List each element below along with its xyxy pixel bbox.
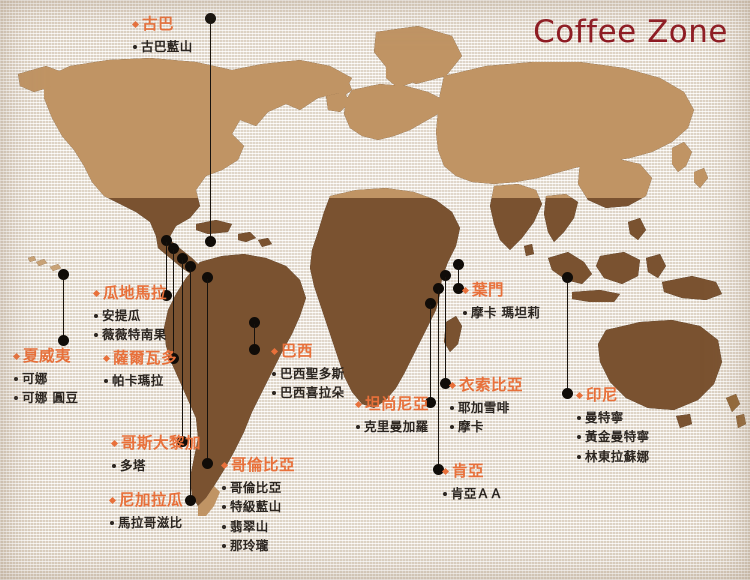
diamond-bullet-icon <box>109 497 116 504</box>
connector-line-kenya <box>438 290 439 469</box>
bean-item[interactable]: 肯亞ＡＡ <box>443 488 503 501</box>
diamond-bullet-icon <box>355 401 362 408</box>
round-bullet-icon <box>450 425 454 429</box>
country-label-cuba[interactable]: 古巴 <box>133 16 193 34</box>
diamond-bullet-icon <box>462 287 469 294</box>
country-name-text: 哥斯大黎加 <box>121 434 201 452</box>
round-bullet-icon <box>222 525 226 529</box>
country-name-text: 坦尚尼亞 <box>365 395 429 413</box>
bean-item[interactable]: 薇薇特南果 <box>94 329 167 342</box>
region-group-guatemala: 瓜地馬拉安提瓜薇薇特南果 <box>94 285 167 342</box>
round-bullet-icon <box>94 314 98 318</box>
bean-item[interactable]: 可娜 <box>14 373 78 386</box>
bean-item[interactable]: 曼特寧 <box>577 412 650 425</box>
bean-item[interactable]: 克里曼加羅 <box>356 421 429 434</box>
bean-name-text: 那玲瓏 <box>230 538 269 553</box>
bean-name-text: 可娜 圓豆 <box>22 390 78 405</box>
round-bullet-icon <box>577 435 581 439</box>
round-bullet-icon <box>14 396 18 400</box>
bean-name-text: 曼特寧 <box>585 410 624 425</box>
country-name-text: 哥倫比亞 <box>231 456 295 474</box>
region-group-costa-rica: 哥斯大黎加多塔 <box>112 435 201 472</box>
region-group-hawaii: 夏威夷可娜可娜 圓豆 <box>14 348 78 405</box>
bean-name-text: 帕卡瑪拉 <box>112 373 164 388</box>
round-bullet-icon <box>112 464 116 468</box>
country-label-colombia[interactable]: 哥倫比亞 <box>222 457 295 475</box>
country-name-text: 古巴 <box>142 15 174 33</box>
bean-name-text: 翡翠山 <box>230 519 269 534</box>
region-group-cuba: 古巴古巴藍山 <box>133 16 193 53</box>
country-name-text: 巴西 <box>281 342 313 360</box>
label-anchor-pin-colombia[interactable] <box>202 458 213 469</box>
round-bullet-icon <box>272 372 276 376</box>
bean-item[interactable]: 巴西聖多斯 <box>272 368 345 381</box>
bean-item[interactable]: 巴西喜拉朵 <box>272 387 345 400</box>
round-bullet-icon <box>356 425 360 429</box>
bean-item[interactable]: 安提瓜 <box>94 310 167 323</box>
country-label-tanzania[interactable]: 坦尚尼亞 <box>356 396 429 414</box>
round-bullet-icon <box>272 391 276 395</box>
round-bullet-icon <box>222 505 226 509</box>
bean-name-text: 耶加雪啡 <box>458 400 510 415</box>
connector-line-costa-rica <box>182 260 183 441</box>
bean-name-text: 肯亞ＡＡ <box>451 486 503 501</box>
country-label-indonesia[interactable]: 印尼 <box>577 387 650 405</box>
bean-name-text: 林東拉蘇娜 <box>585 449 650 464</box>
diamond-bullet-icon <box>576 392 583 399</box>
diamond-bullet-icon <box>111 440 118 447</box>
bean-item[interactable]: 耶加雪啡 <box>450 402 523 415</box>
region-group-colombia: 哥倫比亞哥倫比亞特級藍山翡翠山那玲瓏 <box>222 457 295 553</box>
country-label-hawaii[interactable]: 夏威夷 <box>14 348 78 366</box>
country-name-text: 尼加拉瓜 <box>119 491 183 509</box>
bean-name-text: 巴西喜拉朵 <box>280 385 345 400</box>
bean-item[interactable]: 多塔 <box>112 460 201 473</box>
round-bullet-icon <box>450 406 454 410</box>
round-bullet-icon <box>14 377 18 381</box>
region-group-brazil: 巴西巴西聖多斯巴西喜拉朵 <box>272 343 345 400</box>
diamond-bullet-icon <box>442 468 449 475</box>
country-label-costa-rica[interactable]: 哥斯大黎加 <box>112 435 201 453</box>
diamond-bullet-icon <box>449 382 456 389</box>
country-label-el-salvador[interactable]: 薩爾瓦多 <box>104 350 177 368</box>
bean-item[interactable]: 可娜 圓豆 <box>14 392 78 405</box>
bean-name-text: 薇薇特南果 <box>102 327 167 342</box>
country-label-yemen[interactable]: 葉門 <box>463 282 540 300</box>
region-group-yemen: 葉門摩卡 瑪坦莉 <box>463 282 540 319</box>
bean-name-text: 巴西聖多斯 <box>280 366 345 381</box>
round-bullet-icon <box>443 492 447 496</box>
country-name-text: 瓜地馬拉 <box>103 284 167 302</box>
country-name-text: 衣索比亞 <box>459 376 523 394</box>
country-name-text: 夏威夷 <box>23 347 71 365</box>
round-bullet-icon <box>110 521 114 525</box>
label-anchor-pin-indonesia[interactable] <box>562 388 573 399</box>
bean-name-text: 可娜 <box>22 371 48 386</box>
country-name-text: 薩爾瓦多 <box>113 349 177 367</box>
bean-name-text: 摩卡 <box>458 419 484 434</box>
connector-line-el-salvador <box>173 250 174 358</box>
bean-item[interactable]: 特級藍山 <box>222 501 295 514</box>
bean-item[interactable]: 那玲瓏 <box>222 540 295 553</box>
region-group-ethiopia: 衣索比亞耶加雪啡摩卡 <box>450 377 523 434</box>
country-label-nicaragua[interactable]: 尼加拉瓜 <box>110 492 183 510</box>
diamond-bullet-icon <box>221 462 228 469</box>
round-bullet-icon <box>133 45 137 49</box>
country-label-ethiopia[interactable]: 衣索比亞 <box>450 377 523 395</box>
round-bullet-icon <box>222 544 226 548</box>
country-name-text: 葉門 <box>472 281 504 299</box>
bean-item[interactable]: 哥倫比亞 <box>222 482 295 495</box>
diamond-bullet-icon <box>13 353 20 360</box>
connector-line-cuba <box>210 20 211 240</box>
bean-name-text: 哥倫比亞 <box>230 480 282 495</box>
country-label-guatemala[interactable]: 瓜地馬拉 <box>94 285 167 303</box>
bean-name-text: 多塔 <box>120 458 146 473</box>
round-bullet-icon <box>104 379 108 383</box>
bean-name-text: 特級藍山 <box>230 499 282 514</box>
diamond-bullet-icon <box>103 355 110 362</box>
region-group-kenya: 肯亞肯亞ＡＡ <box>443 463 503 500</box>
connector-line-indonesia <box>567 279 568 393</box>
round-bullet-icon <box>463 311 467 315</box>
bean-item[interactable]: 翡翠山 <box>222 521 295 534</box>
region-group-nicaragua: 尼加拉瓜馬拉哥滋比 <box>110 492 183 529</box>
diamond-bullet-icon <box>271 348 278 355</box>
bean-name-text: 摩卡 瑪坦莉 <box>471 305 540 320</box>
label-anchor-pin-brazil[interactable] <box>249 344 260 355</box>
region-group-tanzania: 坦尚尼亞克里曼加羅 <box>356 396 429 433</box>
label-anchor-pin-cuba[interactable] <box>205 236 216 247</box>
diamond-bullet-icon <box>132 21 139 28</box>
region-group-el-salvador: 薩爾瓦多帕卡瑪拉 <box>104 350 177 387</box>
country-label-brazil[interactable]: 巴西 <box>272 343 345 361</box>
bean-item[interactable]: 林東拉蘇娜 <box>577 451 650 464</box>
connector-line-tanzania <box>430 305 431 402</box>
bean-name-text: 馬拉哥滋比 <box>118 515 183 530</box>
label-anchor-pin-nicaragua[interactable] <box>185 495 196 506</box>
diamond-bullet-icon <box>93 290 100 297</box>
coffee-zone-infographic: Coffee Zone 古巴古巴藍山夏威夷可娜可娜 圓豆瓜地馬拉安提瓜薇薇特南果… <box>0 0 750 580</box>
region-group-indonesia: 印尼曼特寧黃金曼特寧林東拉蘇娜 <box>577 387 650 463</box>
country-name-text: 印尼 <box>586 386 618 404</box>
bean-item[interactable]: 摩卡 瑪坦莉 <box>463 307 540 320</box>
page-title: Coffee Zone <box>533 14 728 50</box>
bean-item[interactable]: 摩卡 <box>450 421 523 434</box>
bean-name-text: 古巴藍山 <box>141 39 193 54</box>
bean-item[interactable]: 古巴藍山 <box>133 41 193 54</box>
connector-line-hawaii <box>63 276 64 340</box>
bean-name-text: 克里曼加羅 <box>364 419 429 434</box>
round-bullet-icon <box>222 486 226 490</box>
connector-line-ethiopia <box>445 277 446 383</box>
round-bullet-icon <box>94 333 98 337</box>
country-label-kenya[interactable]: 肯亞 <box>443 463 503 481</box>
label-anchor-pin-hawaii[interactable] <box>58 335 69 346</box>
bean-item[interactable]: 帕卡瑪拉 <box>104 375 177 388</box>
country-name-text: 肯亞 <box>452 462 484 480</box>
bean-name-text: 黃金曼特寧 <box>585 429 650 444</box>
bean-name-text: 安提瓜 <box>102 308 141 323</box>
connector-line-colombia <box>207 279 208 463</box>
round-bullet-icon <box>577 455 581 459</box>
bean-item[interactable]: 馬拉哥滋比 <box>110 517 183 530</box>
bean-item[interactable]: 黃金曼特寧 <box>577 431 650 444</box>
round-bullet-icon <box>577 416 581 420</box>
